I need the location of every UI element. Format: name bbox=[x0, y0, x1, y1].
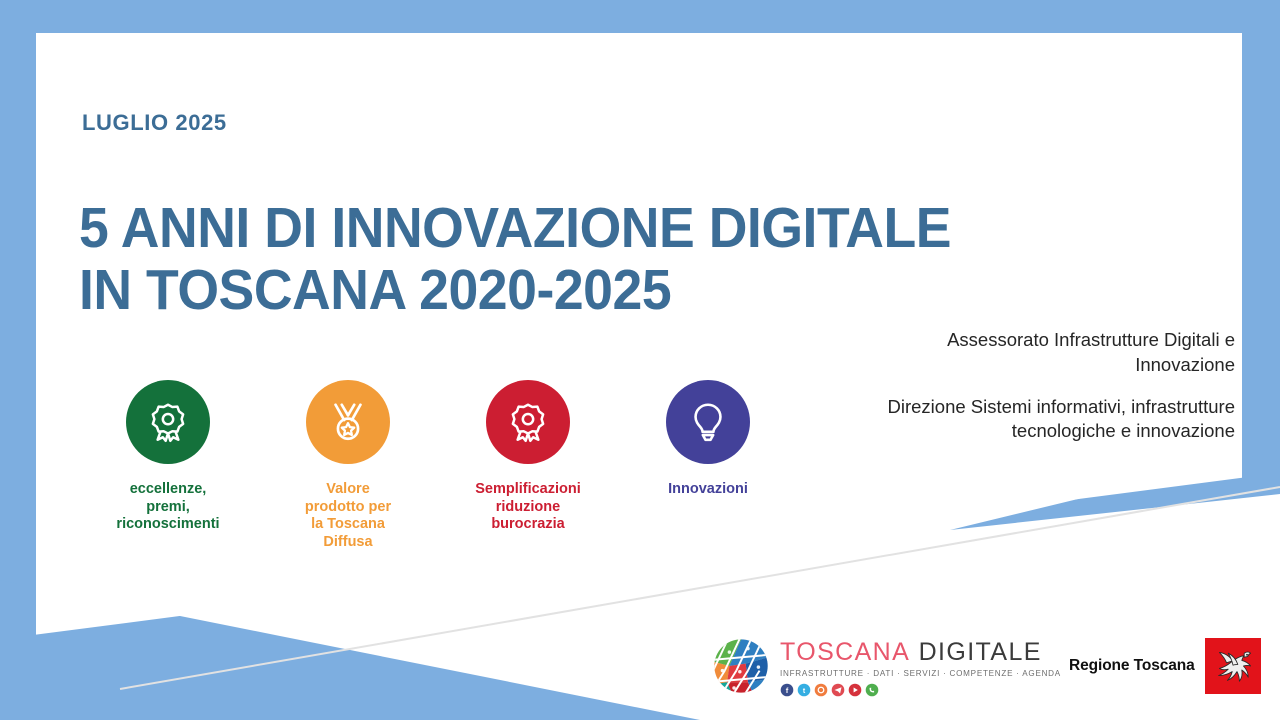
page-title: 5 ANNI DI INNOVAZIONE DIGITALE IN TOSCAN… bbox=[79, 198, 1104, 321]
pillar-list: eccellenze, premi, riconoscimenti Valore… bbox=[78, 380, 798, 552]
medal-icon bbox=[325, 399, 371, 445]
toscana-digitale-logo: TOSCANA DIGITALE INFRASTRUTTURE · DATI ·… bbox=[712, 637, 1061, 697]
award-rosette-icon bbox=[145, 399, 191, 445]
pillar-icon-badge-1 bbox=[126, 380, 210, 464]
youtube-icon[interactable] bbox=[848, 683, 862, 697]
slide-date-eyebrow: LUGLIO 2025 bbox=[82, 110, 227, 136]
pillar-icon-badge-2 bbox=[306, 380, 390, 464]
organization-line-4: tecnologiche e innovazione bbox=[735, 419, 1235, 444]
telegram-icon[interactable] bbox=[831, 683, 845, 697]
wordmark-digitale: DIGITALE bbox=[919, 638, 1042, 666]
pegasus-icon bbox=[1209, 642, 1257, 690]
page-title-line-2: IN TOSCANA 2020-2025 bbox=[79, 260, 1104, 322]
organization-line-2: Innovazione bbox=[735, 353, 1235, 378]
pillar-label-1: eccellenze, premi, riconoscimenti bbox=[116, 481, 219, 534]
social-icon-row: f t bbox=[780, 683, 1061, 697]
organization-spacer bbox=[735, 378, 1235, 395]
whatsapp-icon[interactable] bbox=[865, 683, 879, 697]
award-rosette-icon bbox=[505, 399, 551, 445]
facebook-icon[interactable]: f bbox=[780, 683, 794, 697]
wordmark-toscana: TOSCANA bbox=[780, 638, 910, 666]
pillar-label-4: Innovazioni bbox=[668, 481, 748, 499]
pillar-icon-badge-4 bbox=[666, 380, 750, 464]
instagram-icon[interactable] bbox=[814, 683, 828, 697]
slide-root: LUGLIO 2025 5 ANNI DI INNOVAZIONE DIGITA… bbox=[0, 0, 1280, 720]
twitter-icon[interactable]: t bbox=[797, 683, 811, 697]
pillar-label-2: Valore prodotto per la Toscana Diffusa bbox=[305, 481, 391, 552]
globe-icon bbox=[712, 637, 770, 695]
pillar-item-semplificazioni: Semplificazioni riduzione burocrazia bbox=[438, 380, 618, 552]
pillar-item-valore: Valore prodotto per la Toscana Diffusa bbox=[258, 380, 438, 552]
pillar-item-eccellenze: eccellenze, premi, riconoscimenti bbox=[78, 380, 258, 552]
pillar-icon-badge-3 bbox=[486, 380, 570, 464]
organization-block: Assessorato Infrastrutture Digitali e In… bbox=[735, 328, 1235, 444]
pillar-item-innovazioni: Innovazioni bbox=[618, 380, 798, 552]
organization-line-3: Direzione Sistemi informativi, infrastru… bbox=[735, 395, 1235, 420]
page-title-line-1: 5 ANNI DI INNOVAZIONE DIGITALE bbox=[79, 198, 1104, 260]
svg-text:f: f bbox=[786, 686, 789, 695]
toscana-digitale-wordmark: TOSCANA DIGITALE bbox=[780, 640, 1061, 665]
toscana-digitale-text: TOSCANA DIGITALE INFRASTRUTTURE · DATI ·… bbox=[780, 637, 1061, 697]
organization-line-1: Assessorato Infrastrutture Digitali e bbox=[735, 328, 1235, 353]
toscana-digitale-tagline: INFRASTRUTTURE · DATI · SERVIZI · COMPET… bbox=[780, 669, 1061, 678]
pillar-label-3: Semplificazioni riduzione burocrazia bbox=[475, 481, 581, 534]
regione-toscana-label: Regione Toscana bbox=[1069, 657, 1195, 675]
lightbulb-icon bbox=[685, 399, 731, 445]
regione-toscana-logo: Regione Toscana bbox=[1069, 638, 1261, 694]
pegasus-emblem bbox=[1205, 638, 1261, 694]
frame-top-band bbox=[0, 0, 1280, 33]
frame-right-band bbox=[1242, 0, 1280, 489]
